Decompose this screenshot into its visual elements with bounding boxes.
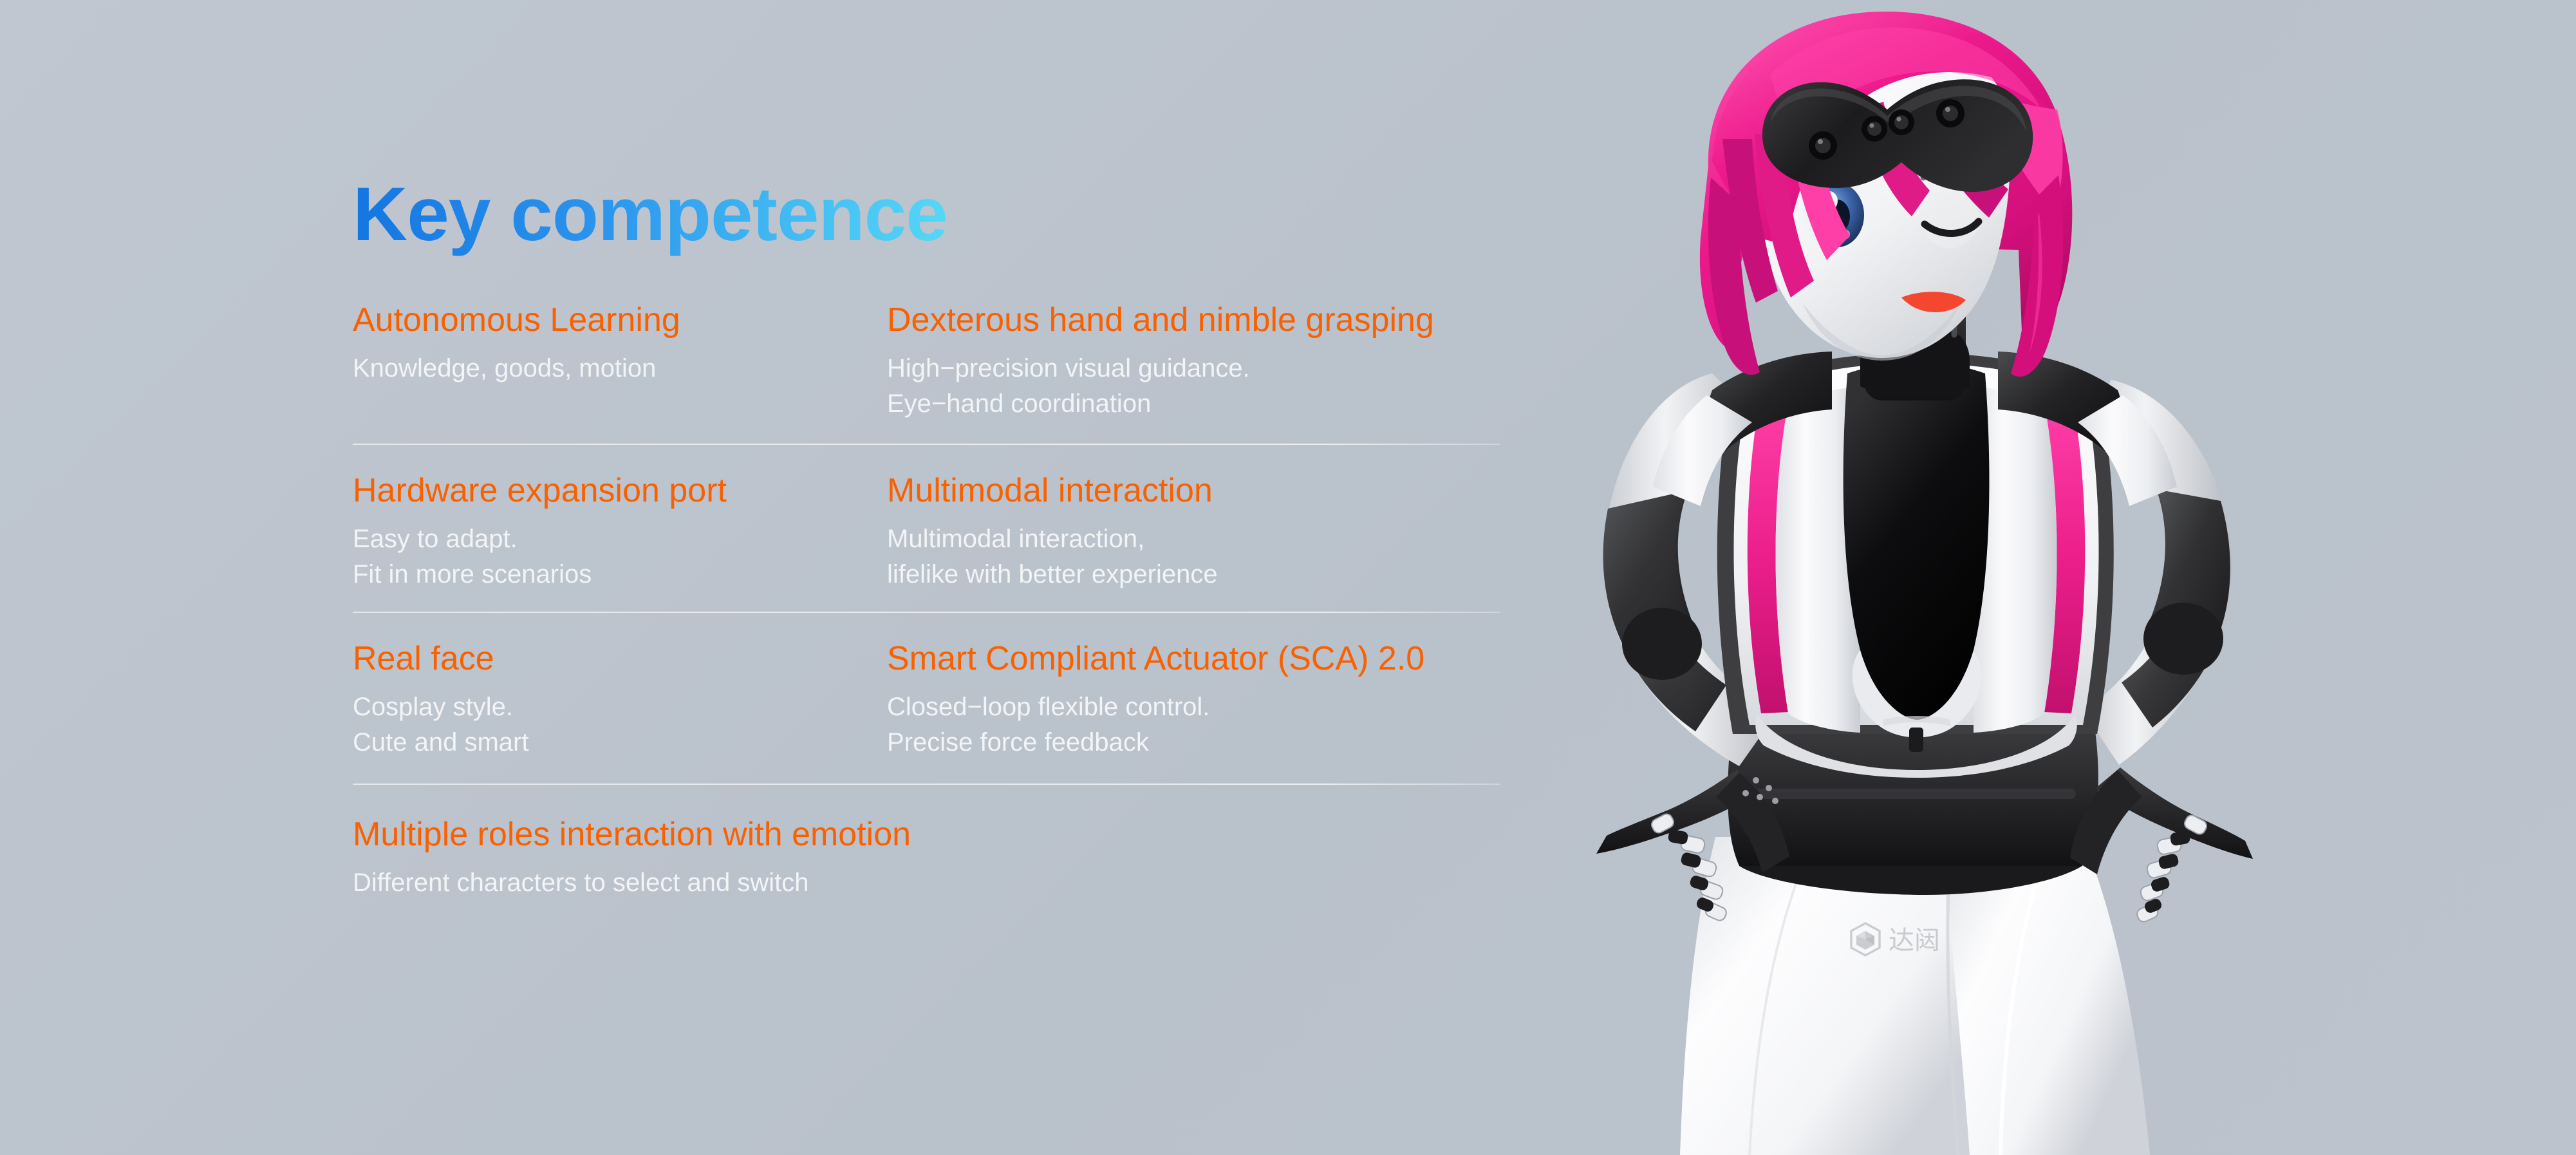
feature-item-hardware-expansion-port[interactable]: Hardware expansion port Easy to adapt. F… [353, 445, 887, 612]
slide-background: Key competence Autonomous Learning Knowl… [0, 0, 2576, 1155]
feature-heading: Real face [353, 641, 887, 677]
feature-description-line: Cute and smart [353, 725, 887, 760]
feature-description: Multimodal interaction, lifelike with be… [887, 521, 1505, 592]
feature-description-line: High−precision visual guidance. [887, 351, 1505, 386]
feature-description-line: Cosplay style. [353, 690, 887, 725]
feature-heading: Multiple roles interaction with emotion [353, 817, 1505, 852]
feature-description: Easy to adapt. Fit in more scenarios [353, 521, 887, 592]
feature-description: Cosplay style. Cute and smart [353, 690, 887, 760]
feature-heading: Autonomous Learning [353, 303, 887, 338]
brand-logo-text: 达闼 [1889, 926, 1940, 955]
feature-row: Hardware expansion port Easy to adapt. F… [353, 445, 1505, 612]
feature-heading: Dexterous hand and nimble grasping [887, 303, 1505, 338]
feature-description-line: Precise force feedback [887, 725, 1505, 760]
feature-description-line: Different characters to select and switc… [353, 865, 1505, 901]
feature-description-line: Knowledge, goods, motion [353, 351, 887, 386]
feature-heading: Hardware expansion port [353, 473, 887, 509]
feature-description-line: Multimodal interaction, [887, 521, 1505, 557]
feature-description-line: Eye−hand coordination [887, 386, 1505, 422]
feature-item-autonomous-learning[interactable]: Autonomous Learning Knowledge, goods, mo… [353, 303, 887, 444]
feature-description: Closed−loop flexible control. Precise fo… [887, 690, 1505, 760]
robot-torso [1653, 352, 2177, 778]
feature-description: Knowledge, goods, motion [353, 351, 887, 386]
feature-item-multimodal-interaction[interactable]: Multimodal interaction Multimodal intera… [887, 445, 1505, 612]
robot-head [1700, 12, 2072, 377]
feature-item-real-face[interactable]: Real face Cosplay style. Cute and smart [353, 613, 887, 784]
feature-item-dexterous-hand[interactable]: Dexterous hand and nimble grasping High−… [887, 303, 1505, 444]
feature-description-line: Fit in more scenarios [353, 557, 887, 592]
feature-item-multiple-roles[interactable]: Multiple roles interaction with emotion … [353, 785, 1505, 901]
feature-row: Multiple roles interaction with emotion … [353, 785, 1505, 901]
robot-illustration: 达闼 [1500, 0, 2576, 1155]
feature-grid: Autonomous Learning Knowledge, goods, mo… [353, 303, 1505, 901]
feature-heading: Smart Compliant Actuator (SCA) 2.0 [887, 641, 1505, 677]
feature-item-smart-compliant-actuator[interactable]: Smart Compliant Actuator (SCA) 2.0 Close… [887, 613, 1505, 784]
page-title: Key competence [353, 171, 947, 258]
feature-description: High−precision visual guidance. Eye−hand… [887, 351, 1505, 422]
feature-description-line: lifelike with better experience [887, 557, 1505, 592]
feature-description-line: Easy to adapt. [353, 521, 887, 557]
feature-description: Different characters to select and switc… [353, 865, 1505, 901]
feature-row: Real face Cosplay style. Cute and smart … [353, 613, 1505, 784]
feature-heading: Multimodal interaction [887, 473, 1505, 509]
feature-description-line: Closed−loop flexible control. [887, 690, 1505, 725]
feature-row: Autonomous Learning Knowledge, goods, mo… [353, 303, 1505, 444]
